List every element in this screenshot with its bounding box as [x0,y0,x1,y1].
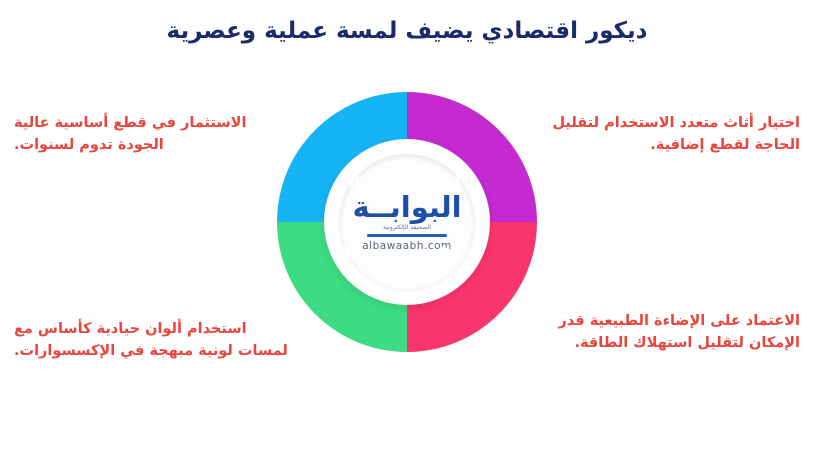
segment-label-03: استخدام ألوان حيادية كأساس مع لمسات لوني… [14,318,294,363]
logo-underline [367,234,447,237]
segment-number-01: 01 [439,174,464,194]
segment-label-02: الاعتماد على الإضاءة الطبيعية قدر الإمكا… [520,310,800,355]
infographic-page: ديكور اقتصادي يضيف لمسة عملية وعصرية الب… [0,0,814,449]
segment-number-02: 02 [437,244,462,264]
segment-label-01: اختيار أثاث متعدد الاستخدام لتقليل الحاج… [520,112,800,157]
page-title: ديكور اقتصادي يضيف لمسة عملية وعصرية [0,18,814,44]
logo-brand-subtitle: الصحيفة الإلكترونية [383,224,431,231]
donut-chart: البوابــة الصحيفة الإلكترونية albawaabh.… [277,92,537,352]
segment-label-04: الاستثمار في قطع أساسية عالية الجودة تدو… [14,112,294,157]
segment-number-04: 04 [337,174,362,194]
logo-brand-arabic: البوابــة [352,193,461,222]
segment-number-03: 03 [338,244,363,264]
